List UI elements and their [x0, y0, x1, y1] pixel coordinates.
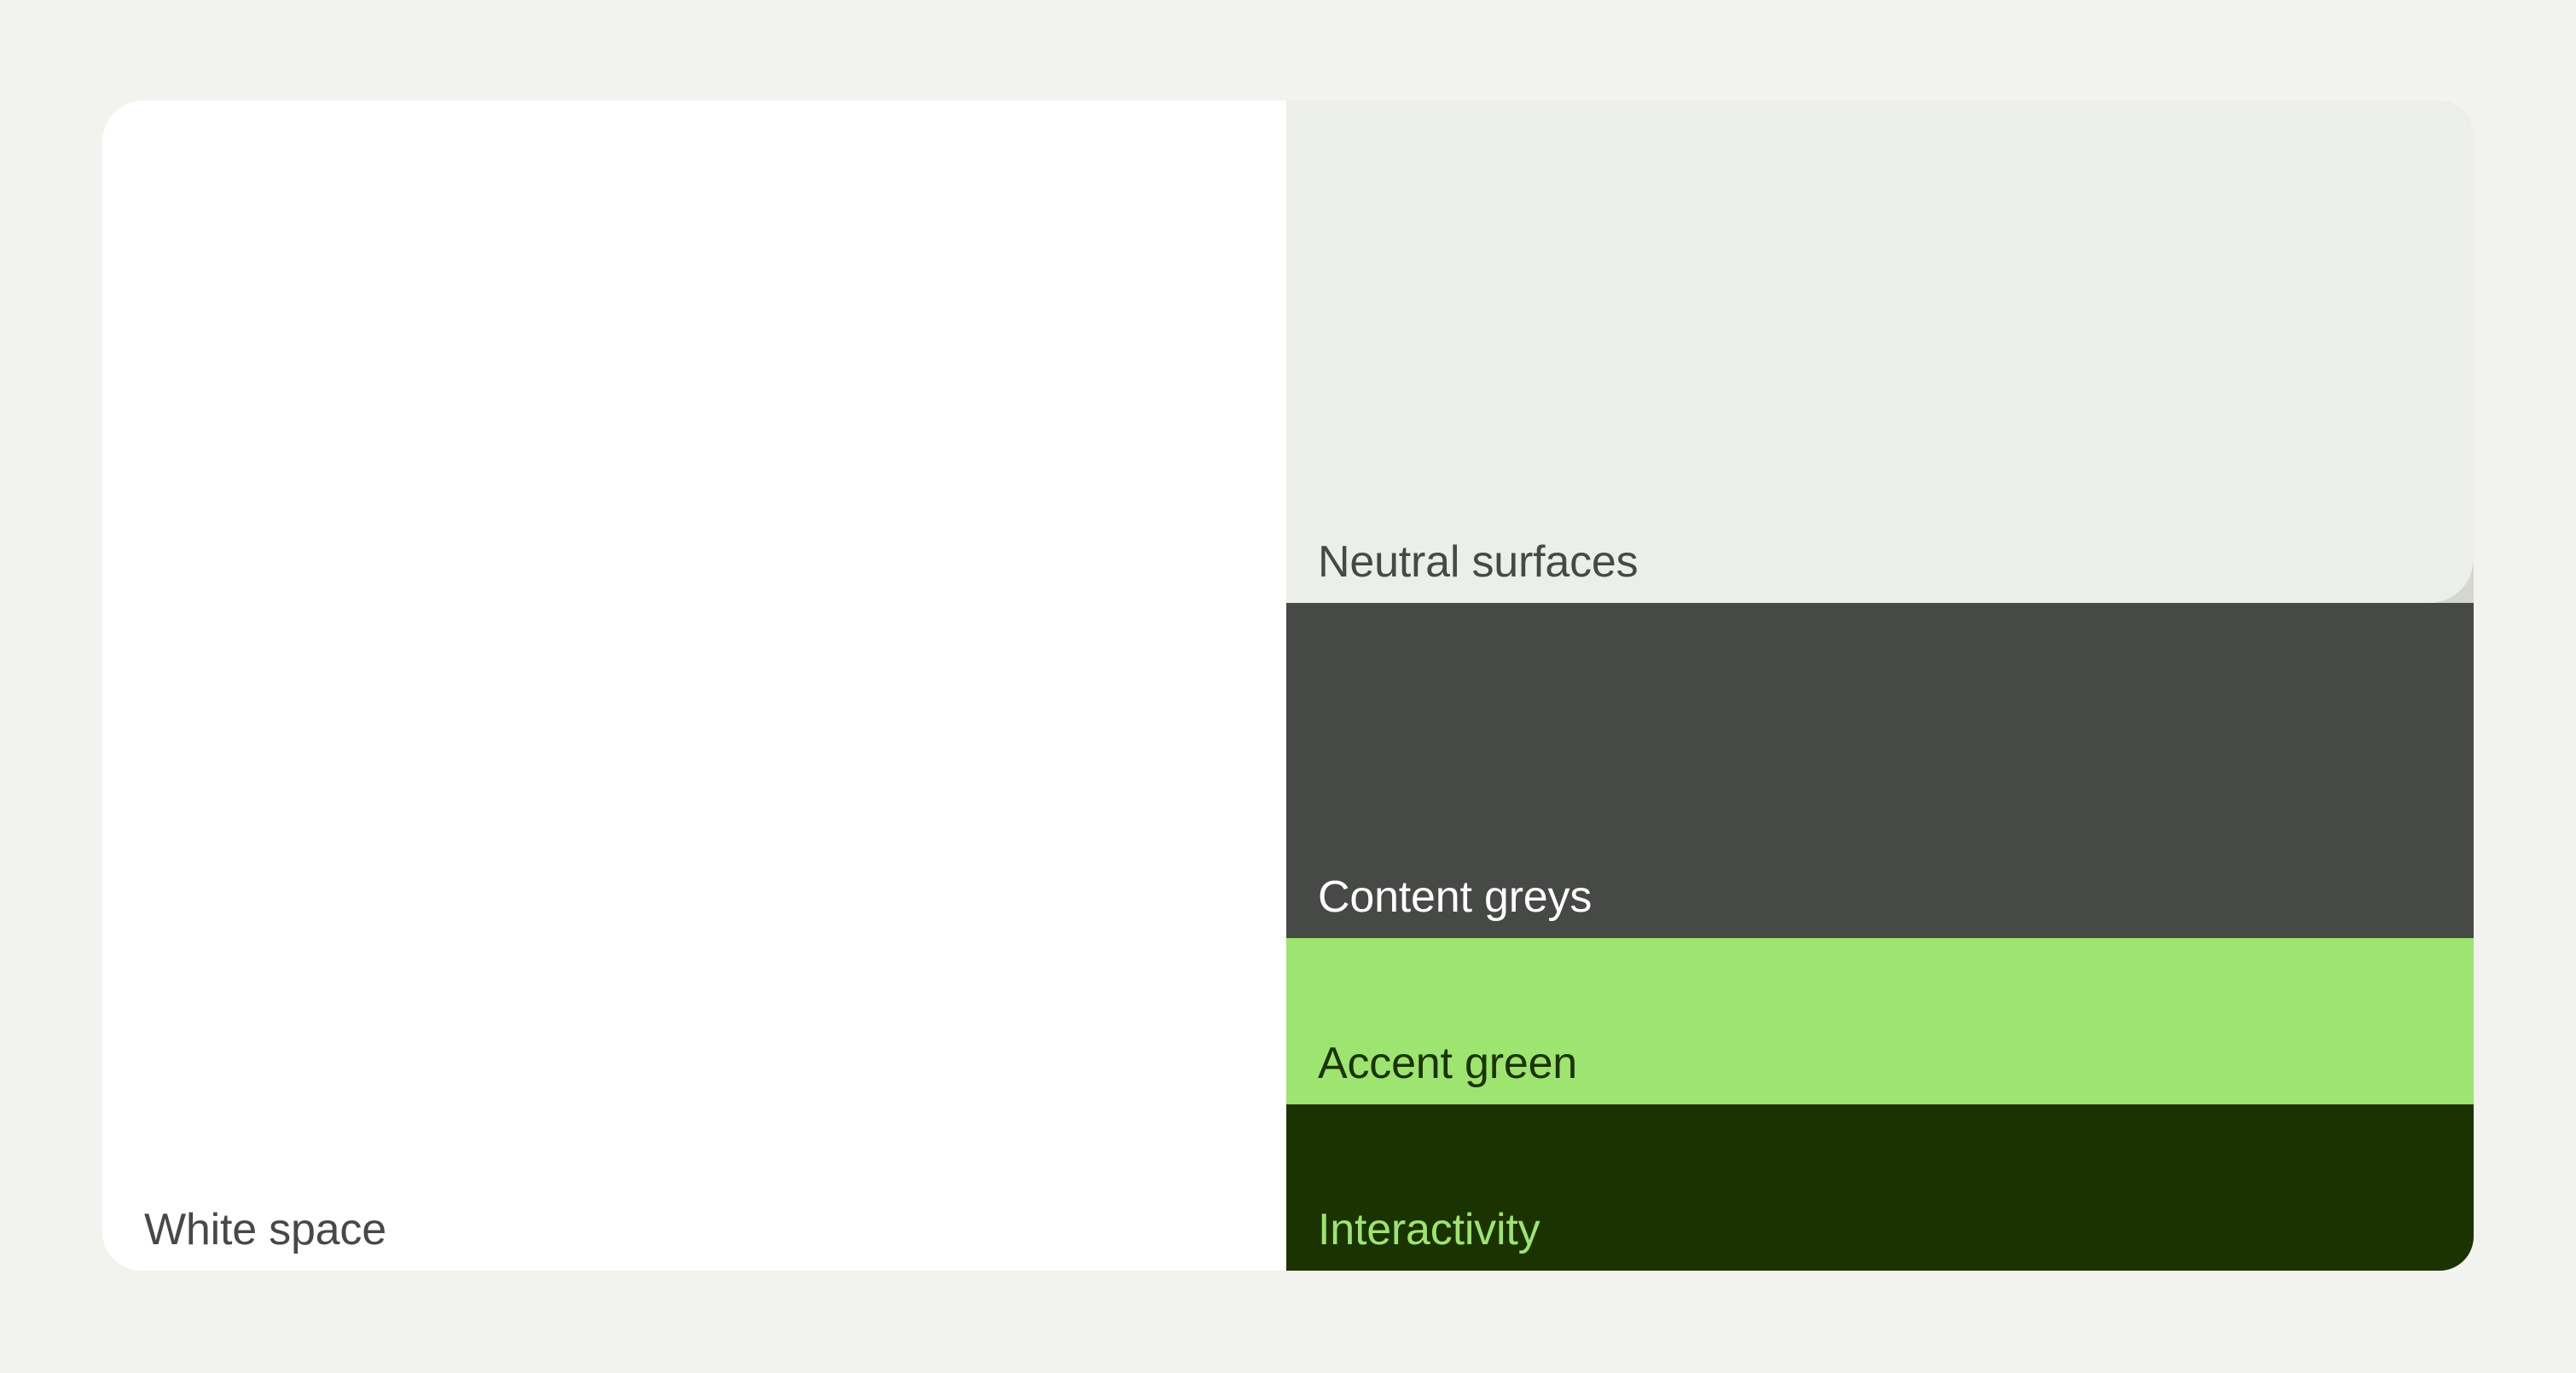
swatch-interactivity[interactable]: Interactivity [1286, 1104, 2474, 1271]
swatch-white-space[interactable]: White space [102, 101, 1286, 1271]
swatch-neutral-surfaces[interactable]: Neutral surfaces [1286, 101, 2474, 603]
swatch-stack: Neutral surfaces Content greys Accent gr… [1286, 101, 2474, 1271]
palette-board: White space Neutral surfaces Content gre… [102, 101, 2474, 1271]
swatch-label-white-space: White space [144, 1208, 386, 1252]
swatch-content-greys[interactable]: Content greys [1286, 603, 2474, 938]
swatch-label-neutral-surfaces: Neutral surfaces [1318, 540, 1638, 584]
swatch-label-interactivity: Interactivity [1318, 1208, 1540, 1252]
page-canvas: White space Neutral surfaces Content gre… [0, 0, 2576, 1373]
swatch-label-content-greys: Content greys [1318, 875, 1592, 919]
white-space-label-wrap: White space [102, 101, 1286, 1271]
swatch-label-accent-green: Accent green [1318, 1041, 1577, 1086]
swatch-accent-green[interactable]: Accent green [1286, 938, 2474, 1104]
